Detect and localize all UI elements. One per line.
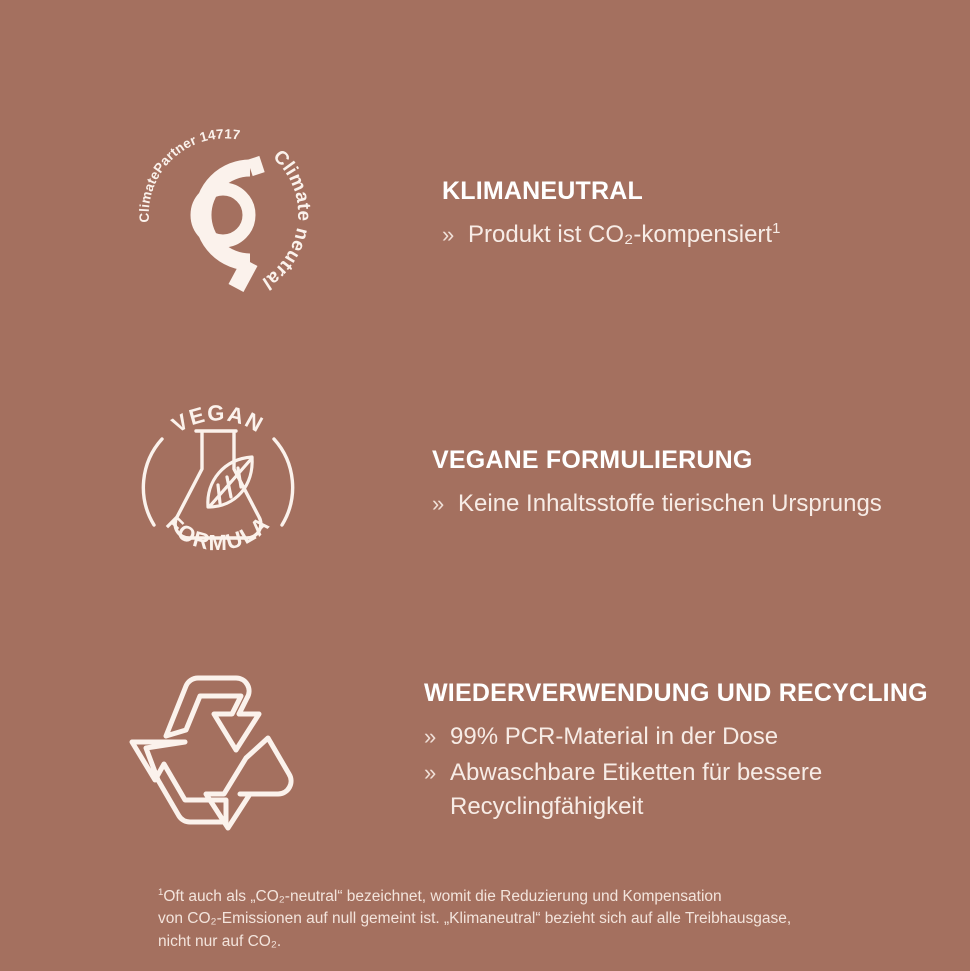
bullet-list-climate-neutral: » Produkt ist CO₂-kompensiert1	[442, 218, 968, 252]
bullet-text: Produkt ist CO₂-kompensiert1	[468, 218, 968, 252]
bullet-list-reuse-recycling: » 99% PCR-Material in der Dose » Abwasch…	[424, 720, 968, 824]
bullet-text: 99% PCR-Material in der Dose	[450, 720, 968, 754]
list-item: » Keine Inhaltsstoffe tierischen Ursprun…	[432, 487, 968, 521]
feature-title-reuse-recycling: WIEDERVERWENDUNG UND RECYCLING	[424, 680, 968, 708]
bullet-marker-icon: »	[424, 720, 450, 753]
footnote-line-1: 1Oft auch als „CO₂-neutral“ bezeichnet, …	[158, 886, 918, 908]
feature-title-vegan-formula: VEGANE FORMULIERUNG	[432, 447, 968, 475]
svg-text:ClimatePartner 14717-2005-100: ClimatePartner 14717-2005-1001	[124, 108, 241, 223]
feature-title-climate-neutral: KLIMANEUTRAL	[442, 178, 968, 206]
recycling-loop-icon	[128, 670, 300, 832]
feature-row-vegan-formula: VEGAN FORMULA VEGANE FORMULIERUNG » Kein…	[128, 385, 968, 580]
list-item: » Produkt ist CO₂-kompensiert1	[442, 218, 968, 252]
climate-partner-badge-icon: ClimatePartner 14717-2005-1001 Climate n…	[128, 120, 318, 310]
svg-text:Climate neutral: Climate neutral	[258, 146, 314, 293]
feature-text-vegan-formula: VEGANE FORMULIERUNG » Keine Inhaltsstoff…	[432, 385, 968, 523]
vegan-formula-badge-icon: VEGAN FORMULA	[128, 385, 308, 580]
bullet-list-vegan-formula: » Keine Inhaltsstoffe tierischen Ursprun…	[432, 487, 968, 521]
bullet-marker-icon: »	[432, 487, 458, 520]
feature-text-climate-neutral: KLIMANEUTRAL » Produkt ist CO₂-kompensie…	[442, 120, 968, 254]
bullet-marker-icon: »	[424, 756, 450, 789]
climate-partner-id-text: ClimatePartner 14717-2005-1001	[124, 108, 241, 223]
footnote-reference: 1	[772, 221, 780, 237]
sustainability-infographic: ClimatePartner 14717-2005-1001 Climate n…	[0, 0, 970, 971]
climate-neutral-claim-text: Climate neutral	[258, 146, 314, 293]
footnote-block: 1Oft auch als „CO₂-neutral“ bezeichnet, …	[158, 886, 918, 953]
svg-text:FORMULA: FORMULA	[161, 511, 275, 555]
leaf-shape	[208, 457, 252, 507]
feature-row-climate-neutral: ClimatePartner 14717-2005-1001 Climate n…	[128, 120, 968, 310]
list-item: » Abwaschbare Etiketten für bessere Recy…	[424, 756, 968, 824]
footnote-line-3: nicht nur auf CO₂.	[158, 931, 918, 953]
feature-text-reuse-recycling: WIEDERVERWENDUNG UND RECYCLING » 99% PCR…	[424, 670, 968, 826]
bullet-text: Keine Inhaltsstoffe tierischen Ursprungs	[458, 487, 968, 521]
vegan-badge-bottom-text: FORMULA	[161, 511, 275, 555]
bullet-marker-icon: »	[442, 218, 468, 251]
footnote-line-2: von CO₂-Emissionen auf null gemeint ist.…	[158, 908, 918, 930]
bullet-text: Abwaschbare Etiketten für bessere Recycl…	[450, 756, 968, 824]
feature-row-reuse-recycling: WIEDERVERWENDUNG UND RECYCLING » 99% PCR…	[128, 670, 968, 832]
list-item: » 99% PCR-Material in der Dose	[424, 720, 968, 754]
